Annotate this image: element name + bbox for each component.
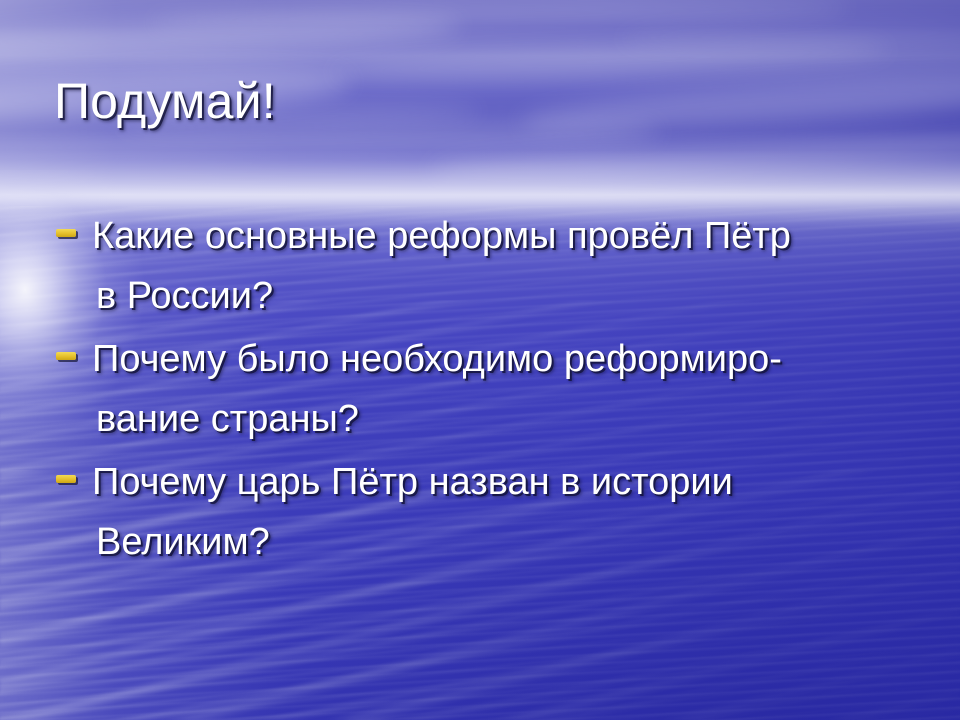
bullet-item-3-line-2: Великим? bbox=[92, 512, 932, 572]
dash-bullet-icon bbox=[52, 452, 92, 512]
slide-title: Подумай! bbox=[54, 72, 276, 130]
bullet-item-2-line-1: Почему было необходимо реформиро- bbox=[92, 329, 782, 389]
bullet-item-3-line-1: Почему царь Пётр назван в истории bbox=[92, 452, 733, 512]
bullet-item-1-line-1: Какие основные реформы провёл Пётр bbox=[92, 206, 791, 266]
bullet-item-1-line-2: в России? bbox=[92, 266, 932, 326]
bullet-item-2-line-2: вание страны? bbox=[92, 389, 932, 449]
bullet-first-line: Почему царь Пётр назван в истории bbox=[52, 452, 932, 512]
bullet-item-3: Почему царь Пётр назван в истории Велики… bbox=[52, 452, 932, 572]
bullet-item-1: Какие основные реформы провёл Пётр в Рос… bbox=[52, 206, 932, 326]
bullet-first-line: Почему было необходимо реформиро- bbox=[52, 329, 932, 389]
bullet-item-2: Почему было необходимо реформиро- вание … bbox=[52, 329, 932, 449]
dash-bullet-icon bbox=[52, 206, 92, 266]
bullet-first-line: Какие основные реформы провёл Пётр bbox=[52, 206, 932, 266]
bullet-list: Какие основные реформы провёл Пётр в Рос… bbox=[52, 206, 932, 575]
presentation-slide: Подумай! Какие основные реформы провёл П… bbox=[0, 0, 960, 720]
dash-bullet-icon bbox=[52, 329, 92, 389]
slide-content: Подумай! Какие основные реформы провёл П… bbox=[0, 0, 960, 720]
